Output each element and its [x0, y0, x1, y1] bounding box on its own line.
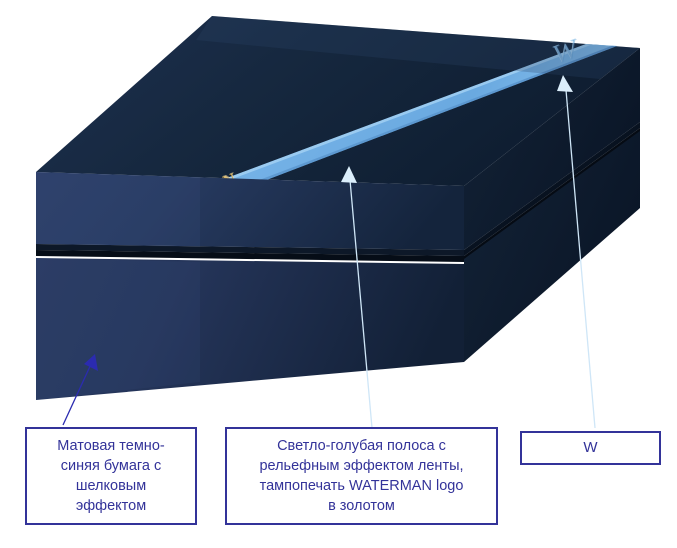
box-base-front-sheen — [36, 258, 200, 400]
box-lid-front-sheen — [36, 172, 200, 247]
screenshot-root: W W WATERMAN WATERMAN PARIS — [0, 0, 677, 548]
annotation-w-emblem: W — [520, 431, 661, 465]
annotation-blue-strip: Светло-голубая полоса с рельефным эффект… — [225, 427, 498, 525]
product-photo-illustration: W W WATERMAN WATERMAN PARIS — [0, 0, 677, 420]
annotation-matte-paper: Матовая темно- синяя бумага с шелковым э… — [25, 427, 197, 525]
product-photo: W W WATERMAN WATERMAN PARIS — [0, 0, 677, 420]
